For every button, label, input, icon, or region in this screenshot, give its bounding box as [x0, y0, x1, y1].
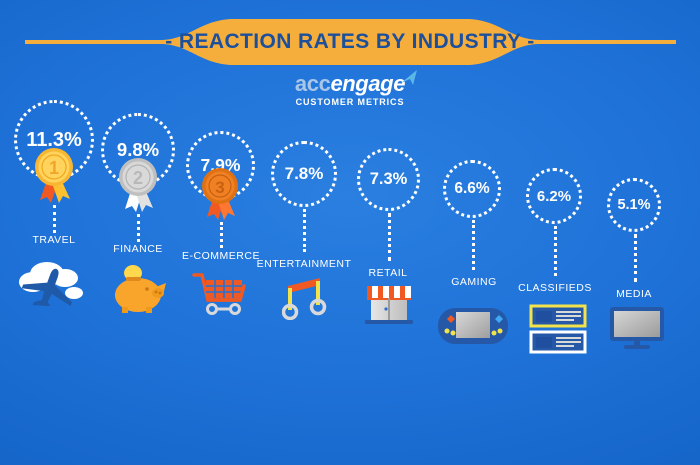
television-icon	[608, 305, 666, 354]
industry-label-ecommerce: E-COMMERCE	[178, 250, 264, 262]
overall-value-classifieds: 6.2%	[537, 188, 571, 205]
piggy-bank-icon	[108, 265, 170, 318]
logo-engage-text: engage	[330, 71, 405, 96]
logo-subtitle: CUSTOMER METRICS	[0, 97, 700, 107]
logo-wordmark: accengage	[295, 72, 405, 96]
industry-label-media: MEDIA	[594, 288, 674, 300]
leader-line-retail	[388, 213, 391, 261]
bubble-classifieds: 6.2%	[526, 168, 582, 224]
page-title: - REACTION RATES BY INDUSTRY -	[0, 17, 700, 67]
leader-line-ecommerce	[220, 222, 223, 248]
handheld-console-icon	[437, 305, 509, 352]
leader-line-gaming	[472, 220, 475, 270]
leader-line-travel	[53, 205, 56, 233]
overall-value-entertainment: 7.8%	[285, 164, 324, 184]
leader-line-classifieds	[554, 226, 557, 276]
arrow-icon	[400, 67, 418, 91]
medal-rank-3: 3	[215, 178, 224, 197]
overall-value-retail: 7.3%	[370, 170, 408, 189]
leader-line-finance	[137, 214, 140, 242]
bronze-medal-icon: 3	[198, 165, 244, 227]
leader-line-entertainment	[303, 209, 306, 252]
medal-rank-2: 2	[133, 168, 143, 188]
storefront-icon	[361, 282, 417, 329]
industry-label-gaming: GAMING	[434, 276, 514, 288]
leader-line-media	[634, 234, 637, 282]
industry-label-finance: FINANCE	[98, 243, 178, 255]
classified-ads-icon	[529, 304, 587, 359]
industry-label-entertainment: ENTERTAINMENT	[256, 258, 352, 270]
industry-label-retail: RETAIL	[348, 267, 428, 279]
overall-value-gaming: 6.6%	[454, 180, 489, 198]
brand-logo: accengage CUSTOMER METRICS	[0, 72, 700, 107]
music-note-icon	[282, 276, 330, 325]
gold-medal-icon: 1	[30, 145, 80, 212]
silver-medal-icon: 2	[114, 155, 164, 220]
overall-value-media: 5.1%	[617, 197, 650, 213]
airplane-icon	[17, 258, 89, 311]
bubble-media: 5.1%	[607, 178, 661, 232]
industry-label-classifieds: CLASSIFIEDS	[514, 282, 596, 294]
logo-acc-text: acc	[295, 71, 331, 96]
shopping-cart-icon	[192, 272, 252, 322]
bubble-entertainment: 7.8%	[271, 141, 337, 207]
bubble-retail: 7.3%	[357, 148, 420, 211]
medal-rank-1: 1	[49, 158, 59, 178]
bubble-gaming: 6.6%	[443, 160, 501, 218]
industry-label-travel: TRAVEL	[14, 234, 94, 246]
